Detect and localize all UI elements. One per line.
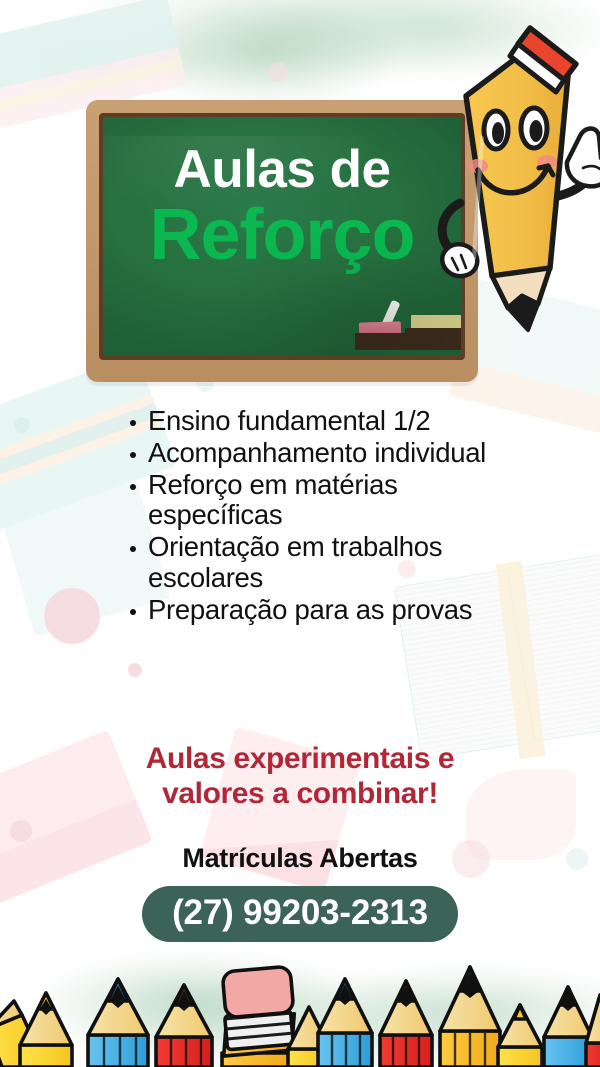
page-title-line2: Reforço: [103, 199, 461, 271]
list-item: Reforço em matérias específicas: [130, 470, 490, 532]
chalkboard-heading: Aulas de Reforço: [103, 143, 461, 271]
decorative-dot: [486, 92, 512, 118]
decorative-dot: [44, 588, 100, 644]
chalkboard: Aulas de Reforço: [86, 100, 478, 382]
list-item: Acompanhamento individual: [130, 438, 490, 469]
phone-badge-wrap: (27) 99203-2313: [0, 886, 600, 942]
phone-number-badge[interactable]: (27) 99203-2313: [142, 886, 458, 942]
decorative-dot: [14, 417, 30, 433]
chalk-tray-upper-ledge: [405, 328, 461, 337]
pink-eraser-icon: [359, 321, 401, 335]
decorative-dot: [268, 62, 288, 82]
list-item: Ensino fundamental 1/2: [130, 406, 490, 437]
promo-text: Aulas experimentais e valores a combinar…: [0, 742, 600, 812]
chalk-tray-ledge: [355, 333, 461, 350]
page-title-line1: Aulas de: [103, 143, 461, 197]
chalkboard-surface: Aulas de Reforço: [103, 117, 461, 356]
poster-canvas: Aulas de Reforço: [0, 0, 600, 1067]
khaki-eraser-icon: [411, 315, 461, 330]
notebook-page-right: [507, 551, 600, 742]
chalk-stick-icon: [378, 300, 400, 335]
enrollment-text: Matrículas Abertas: [0, 843, 600, 874]
notebook-spine: [496, 561, 546, 759]
chalk-tray-icon: [355, 316, 461, 350]
services-list: Ensino fundamental 1/2 Acompanhamento in…: [130, 406, 490, 627]
list-item: Preparação para as provas: [130, 595, 490, 626]
promo-line-1: Aulas experimentais e: [0, 742, 600, 777]
decorative-dot: [128, 663, 142, 677]
list-item: Orientação em trabalhos escolares: [130, 532, 490, 594]
decorative-dot: [10, 820, 32, 842]
colored-pencils-icon: [0, 957, 600, 1067]
promo-line-2: valores a combinar!: [0, 777, 600, 812]
